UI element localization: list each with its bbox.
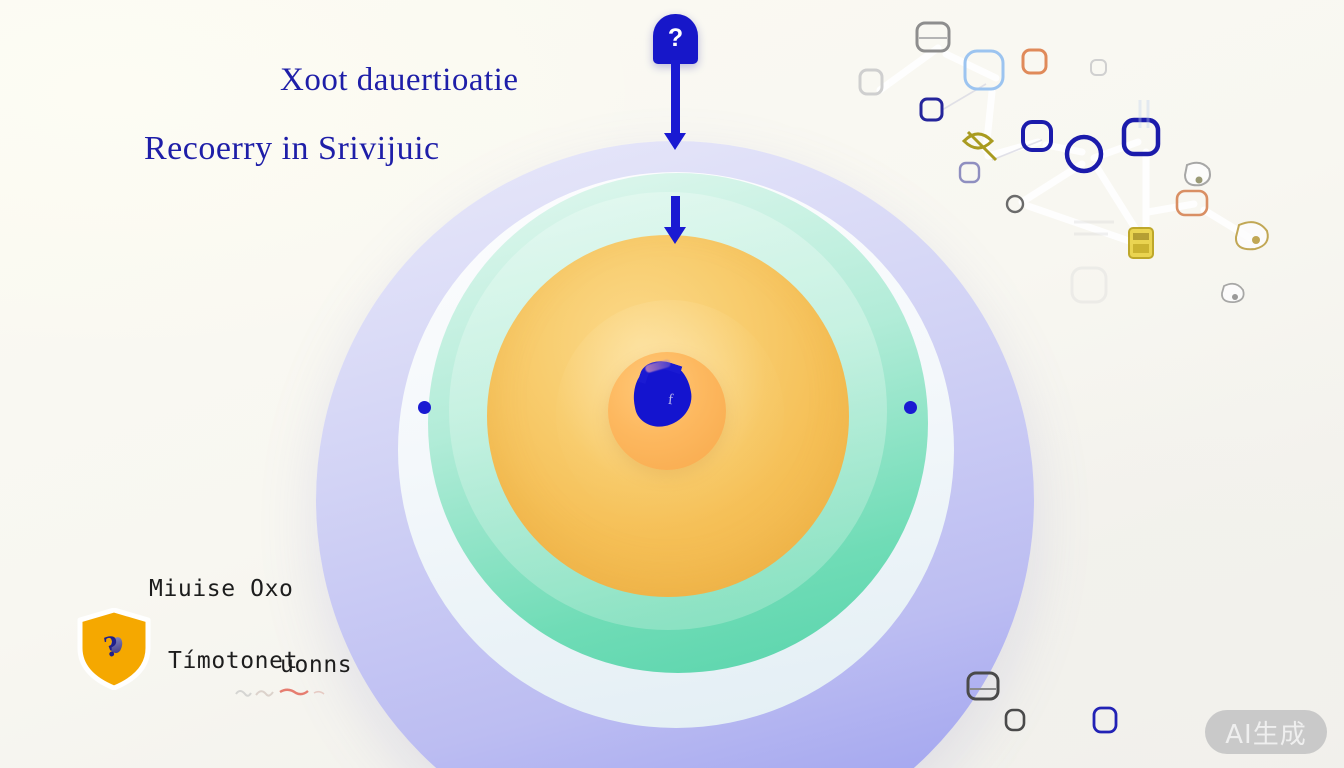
annotation-label-a: Miuise Oxo — [149, 576, 293, 602]
question-badge-label: ? — [668, 26, 683, 51]
annotation-label-b: Tímotonet — [168, 648, 298, 674]
question-badge[interactable]: ? — [653, 14, 698, 64]
ai-watermark: AI生成 — [1205, 710, 1327, 754]
orbit-dot-left — [418, 401, 431, 414]
headline-line-2: Recoerry in Srivijuic — [144, 130, 440, 168]
shield-icon: ? — [75, 608, 153, 690]
orbit-dot-right — [904, 401, 917, 414]
annotation-label-c: uonns — [280, 652, 352, 678]
headline-line-1: Xoot dauertioatie — [280, 62, 519, 99]
scribble-marks-icon — [232, 684, 352, 700]
diagram-canvas: f Xoot dauertioatie Recoerry in Srivijui… — [0, 0, 1344, 768]
ai-watermark-label: AI生成 — [1225, 714, 1306, 751]
